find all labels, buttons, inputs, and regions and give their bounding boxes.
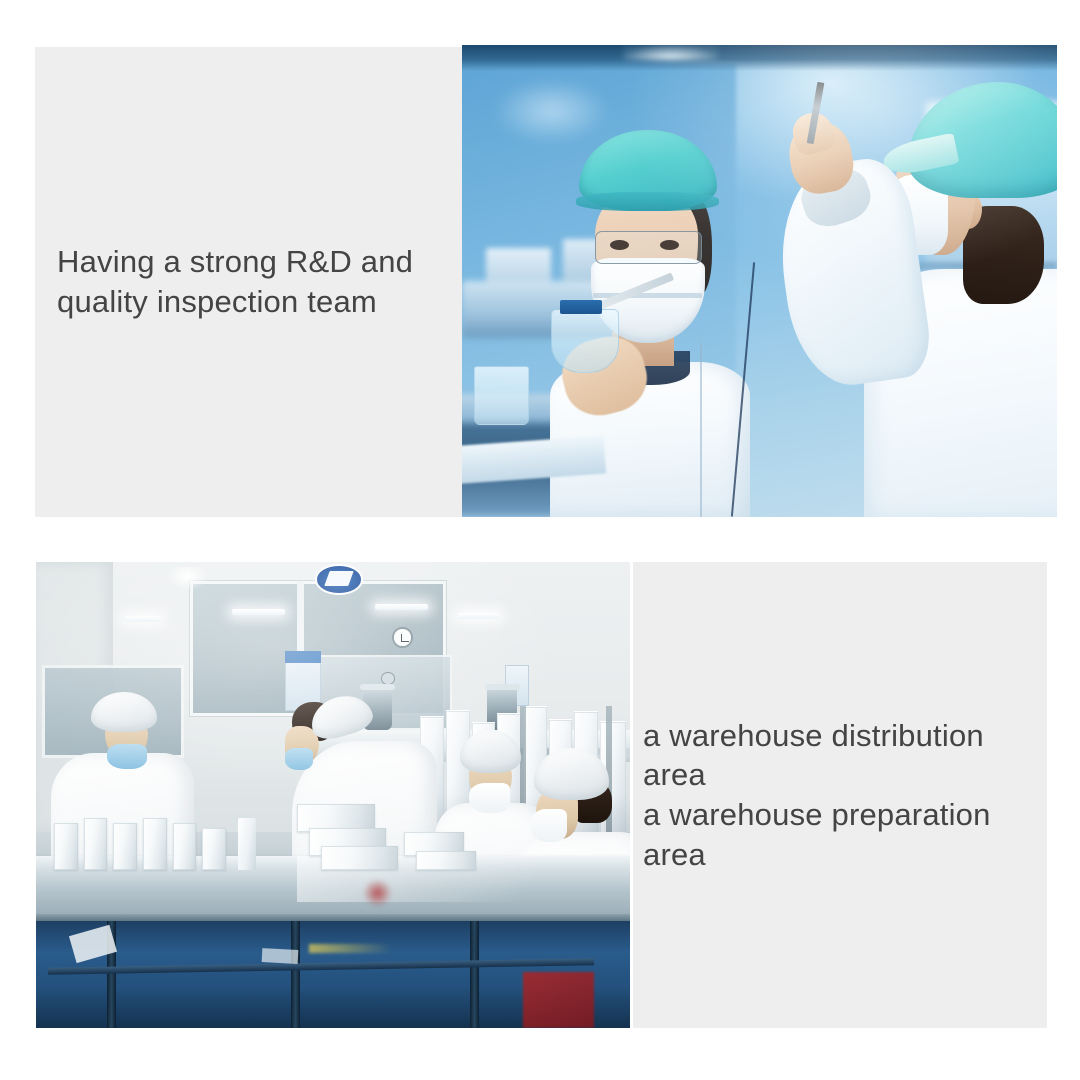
ceiling-lamp-glow xyxy=(167,567,209,590)
worker-hair-net xyxy=(91,692,157,732)
worker-face-mask xyxy=(107,744,147,770)
worker-hair-net xyxy=(460,730,521,773)
ceiling-light xyxy=(232,609,285,615)
lab-eye xyxy=(660,240,679,250)
packing-box xyxy=(416,851,475,870)
packing-box xyxy=(173,823,197,870)
lab-technician-profile xyxy=(771,73,1057,517)
lab-scene xyxy=(462,45,1057,517)
lab-ceiling-light xyxy=(623,45,718,60)
warehouse-caption-text: a warehouse distribution area a warehous… xyxy=(633,716,1047,875)
notice-board-header xyxy=(285,651,321,663)
packing-box xyxy=(321,846,398,869)
page-root: Having a strong R&D and quality inspecti… xyxy=(0,0,1080,1080)
wall-clock-hands xyxy=(401,634,409,642)
red-item xyxy=(523,972,594,1028)
worker-face-mask xyxy=(531,809,568,842)
worker-face-mask xyxy=(285,748,313,770)
warehouse-caption-panel: a warehouse distribution area a warehous… xyxy=(633,562,1047,1028)
lab-flask-cap xyxy=(560,300,602,314)
worker-hair-net xyxy=(534,748,610,799)
lab-coat-seam xyxy=(700,342,702,517)
lab-flask xyxy=(551,309,618,372)
packing-box xyxy=(113,823,137,870)
lab-hair-cap-band xyxy=(576,192,719,211)
table-leg xyxy=(470,921,479,1028)
table-leg xyxy=(291,921,300,1028)
warehouse-scene xyxy=(36,562,630,1028)
product-bottle xyxy=(238,818,256,869)
lab-ceiling-band xyxy=(462,45,1057,71)
worker-face-mask xyxy=(469,783,510,813)
packing-box xyxy=(54,823,78,870)
floor-marking xyxy=(309,944,392,953)
rnd-lab-photo xyxy=(462,45,1057,517)
ceiling-light xyxy=(125,616,161,623)
packing-box xyxy=(202,828,226,870)
rnd-caption-text: Having a strong R&D and quality inspecti… xyxy=(35,242,423,321)
ceiling-light xyxy=(458,613,500,619)
lab-beaker xyxy=(474,366,530,425)
paper-sheet xyxy=(261,948,297,964)
rnd-caption-panel: Having a strong R&D and quality inspecti… xyxy=(35,47,463,517)
ceiling-light xyxy=(375,604,428,610)
warehouse-photo xyxy=(36,562,630,1028)
packing-box xyxy=(84,818,108,869)
red-item xyxy=(363,879,393,907)
lab-eye xyxy=(610,240,629,250)
packing-box xyxy=(143,818,167,869)
